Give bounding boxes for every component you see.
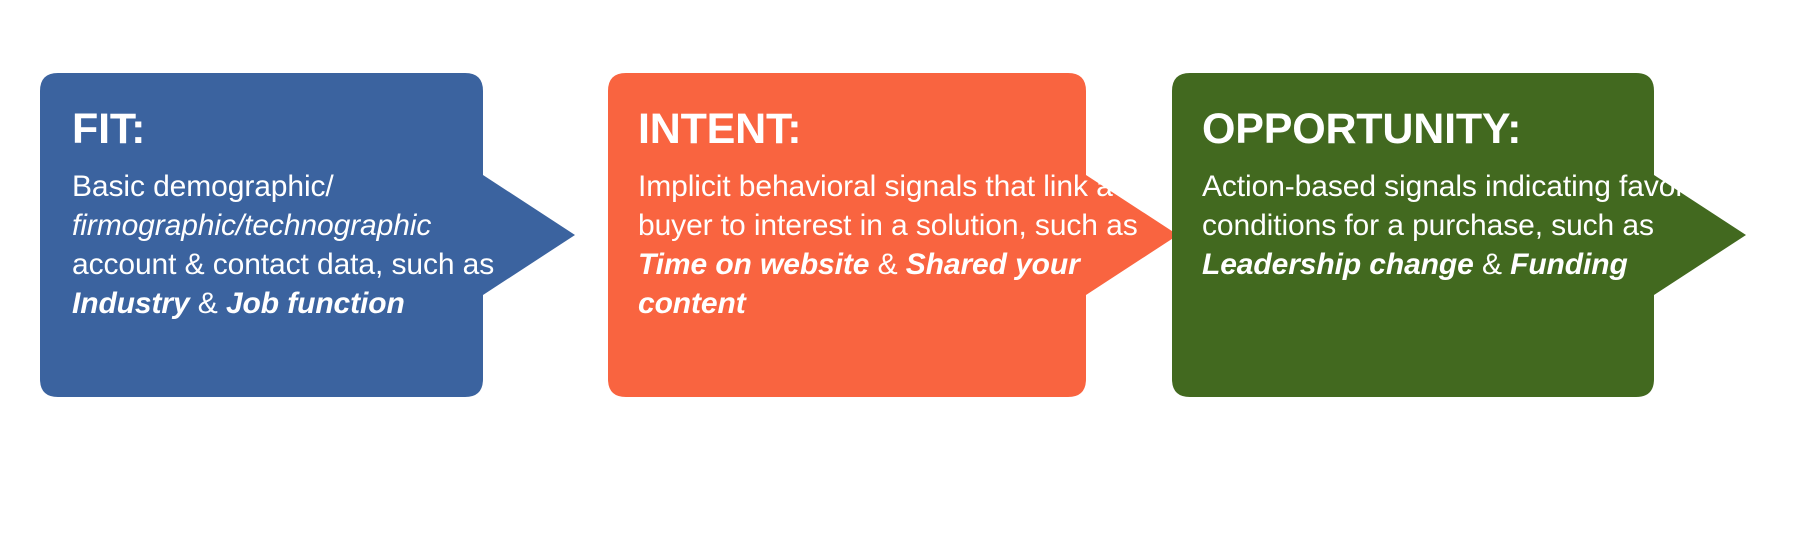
panel-fit-content: FIT: Basic demographic/firmographic/tech… [40, 73, 538, 397]
text-segment: Basic demographic/ [72, 170, 334, 203]
text-segment-emphasis: Time on website [638, 248, 869, 281]
panel-opportunity-title: OPPORTUNITY: [1202, 103, 1793, 155]
text-segment: & [1474, 248, 1510, 281]
text-segment-emphasis: Leadership change [1202, 248, 1474, 281]
text-segment-italic: firmographic/technographic [72, 209, 431, 242]
panel-fit-title: FIT: [72, 103, 538, 155]
panel-opportunity-body: Action-based signals indicating favorabl… [1202, 167, 1793, 284]
text-segment-emphasis: Job function [226, 287, 405, 320]
panel-opportunity[interactable]: OPPORTUNITY: Action-based signals indica… [1022, 73, 1746, 397]
text-segment: & [190, 287, 226, 320]
chevron-process-diagram: FIT: Basic demographic/firmographic/tech… [0, 0, 1793, 541]
text-segment: Action-based signals indicating favorabl… [1202, 170, 1742, 242]
text-segment-emphasis: Industry [72, 287, 190, 320]
text-segment-emphasis: Funding [1510, 248, 1628, 281]
panel-fit[interactable]: FIT: Basic demographic/firmographic/tech… [40, 73, 575, 397]
panel-opportunity-content: OPPORTUNITY: Action-based signals indica… [1172, 73, 1793, 397]
text-segment: & [869, 248, 905, 281]
panel-fit-body: Basic demographic/firmographic/technogra… [72, 167, 538, 323]
text-segment: account & contact data, such as [72, 248, 494, 281]
